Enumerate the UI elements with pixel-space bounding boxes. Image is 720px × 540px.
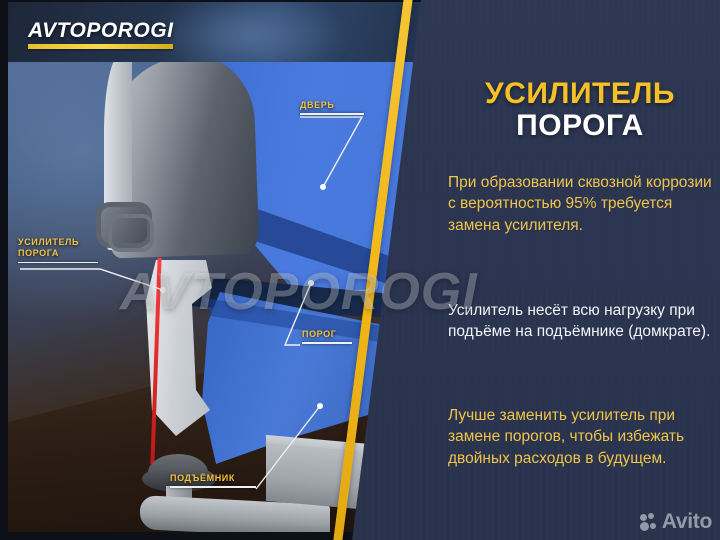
paragraph-advice: Лучше заменить усилитель при замене поро…	[448, 405, 716, 469]
brand-logo: AVTOPOROGI	[28, 20, 173, 49]
callout-door-rule	[300, 113, 364, 115]
callout-reinforcement-label: УСИЛИТЕЛЬ ПОРОГА	[18, 237, 98, 260]
callout-sill: ПОРОГ	[302, 329, 352, 344]
callout-sill-label: ПОРОГ	[302, 329, 352, 340]
paragraph-load: Усилитель несёт всю нагрузку при подъёме…	[448, 300, 716, 343]
title-line-2: ПОРОГА	[444, 110, 716, 142]
avito-logo-icon	[640, 513, 658, 531]
callout-reinforcement: УСИЛИТЕЛЬ ПОРОГА	[18, 237, 98, 263]
callout-sill-rule	[302, 342, 352, 344]
listing-image: AVTOPOROGI AVTOPOROGI ДВЕРЬ УСИЛИТЕЛЬ ПО…	[0, 0, 720, 540]
paragraph-corrosion: При образовании сквозной коррозии с веро…	[448, 172, 716, 236]
page-title: УСИЛИТЕЛЬ ПОРОГА	[444, 78, 716, 143]
callout-reinforcement-rule	[18, 262, 98, 264]
brand-logo-underline	[28, 44, 173, 49]
callout-lift: ПОДЪЁМНИК	[170, 473, 256, 488]
avito-watermark: Avito	[640, 510, 712, 534]
callout-lift-rule	[170, 486, 256, 488]
brand-logo-text: AVTOPOROGI	[28, 20, 173, 41]
title-line-1: УСИЛИТЕЛЬ	[444, 78, 716, 110]
leader-line-lift	[0, 0, 440, 540]
avito-logo-text: Avito	[662, 510, 712, 534]
text-column: УСИЛИТЕЛЬ ПОРОГА При образовании сквозно…	[438, 0, 720, 540]
callout-door-label: ДВЕРЬ	[300, 100, 364, 111]
callout-door: ДВЕРЬ	[300, 100, 364, 115]
callout-lift-label: ПОДЪЁМНИК	[170, 473, 256, 484]
